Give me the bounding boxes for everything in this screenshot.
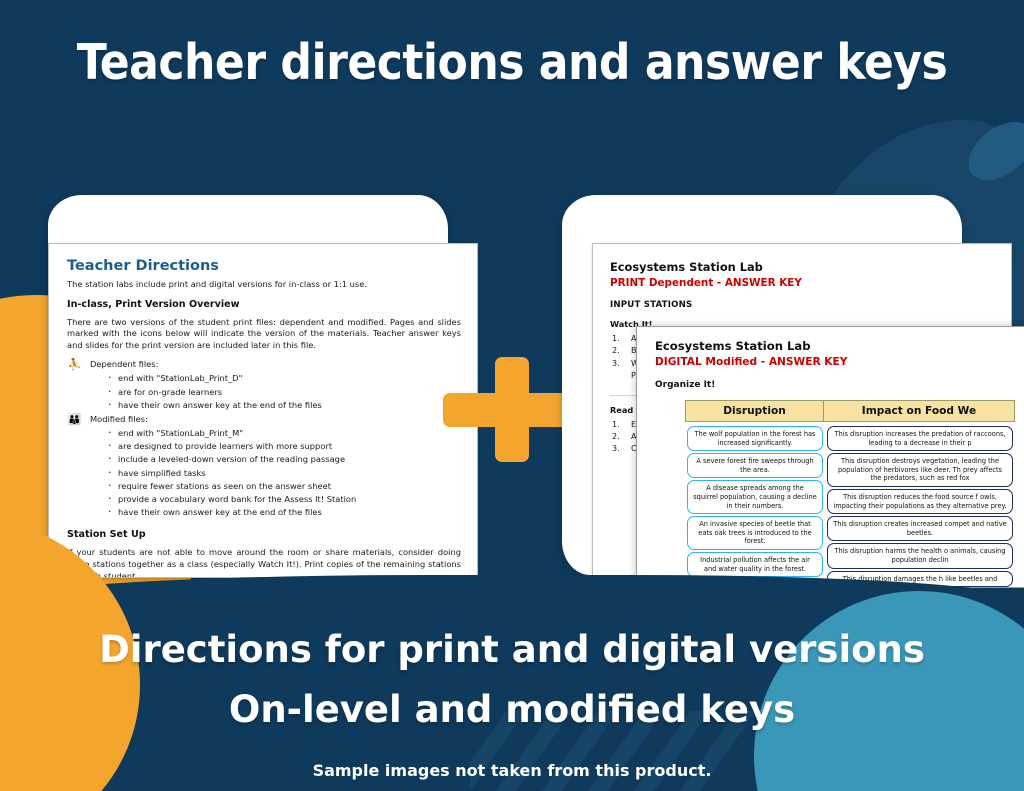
table-row: A disease spreads among the squirrel pop… [687,480,823,514]
left-doc-group-label: Modified files: [90,414,148,424]
subheading-line-2: On-level and modified keys [0,688,1024,731]
table-row: The wolf population in the forest has in… [687,426,823,451]
list-item: end with "StationLab_Print_D" [107,372,461,385]
left-doc-section1-heading: In-class, Print Version Overview [67,299,461,310]
list-item: are for on-grade learners [107,386,461,399]
right-doc-title: Ecosystems Station Lab [610,260,1011,274]
list-item: provide a vocabulary word bank for the A… [107,493,461,506]
column-header-impact: Impact on Food We [824,401,1014,421]
organize-it-table: Disruption Impact on Food We The wolf po… [685,400,1015,588]
right-doc-answer-key-label: PRINT Dependent - ANSWER KEY [610,277,1011,289]
document-teacher-directions: Teacher Directions The station labs incl… [48,243,478,578]
table-row: An invasive species of beetle that eats … [687,516,823,550]
left-doc-section2-paragraph: If your students are not able to move ar… [67,547,461,578]
overlay-doc-answer-key-label: DIGITAL Modified - ANSWER KEY [655,356,1024,368]
overlay-doc-title: Ecosystems Station Lab [655,339,1024,353]
list-item: have their own answer key at the end of … [107,399,461,412]
list-item: are designed to provide learners with mo… [107,440,461,453]
column-header-disruption: Disruption [686,401,824,421]
table-column-impact: This disruption increases the predation … [825,422,1015,588]
table-header-row: Disruption Impact on Food We [685,400,1015,422]
table-row: This disruption harms the health o anima… [827,543,1013,568]
left-doc-group-modified: 👪 Modified files: [67,414,461,426]
footnote-text: Sample images not taken from this produc… [0,761,1024,780]
table-body: The wolf population in the forest has in… [685,422,1015,588]
left-doc-bullets-modified: end with "StationLab_Print_M" are design… [107,427,461,519]
list-item: include a leveled-down version of the re… [107,453,461,466]
left-doc-title: Teacher Directions [67,258,461,274]
table-row: This disruption creates increased compet… [827,516,1013,541]
left-doc-intro: The station labs include print and digit… [67,279,461,291]
modified-files-icon: 👪 [67,415,82,426]
plus-icon [443,357,581,462]
left-doc-section2-heading: Station Set Up [67,529,461,540]
table-row: This disruption reduces the food source … [827,489,1013,514]
page-title: Teacher directions and answer keys [0,34,1024,91]
list-item: have their own answer key at the end of … [107,506,461,519]
table-row: Industrial pollution affects the air and… [687,552,823,577]
left-doc-bullets-dependent: end with "StationLab_Print_D" are for on… [107,372,461,412]
table-row: This disruption destroys vegetation, lea… [827,453,1013,487]
dependent-files-icon: ⛹ [67,360,82,371]
overlay-doc-section-heading: Organize It! [655,380,1024,390]
left-doc-section1-paragraph: There are two versions of the student pr… [67,317,461,352]
poster-canvas: Teacher directions and answer keys Teach… [0,0,1024,791]
subheading-line-1: Directions for print and digital version… [0,628,1024,671]
right-doc-section-heading: INPUT STATIONS [610,300,1011,310]
list-item: end with "StationLab_Print_M" [107,427,461,440]
list-item: require fewer stations as seen on the an… [107,480,461,493]
table-row: This disruption increases the predation … [827,426,1013,451]
list-item: have simplified tasks [107,467,461,480]
table-row: A severe forest fire sweeps through the … [687,453,823,478]
table-column-disruption: The wolf population in the forest has in… [685,422,825,588]
left-doc-group-label: Dependent files: [90,359,158,369]
document-digital-answer-key: Ecosystems Station Lab DIGITAL Modified … [636,326,1024,588]
left-doc-group-dependent: ⛹ Dependent files: [67,359,461,371]
